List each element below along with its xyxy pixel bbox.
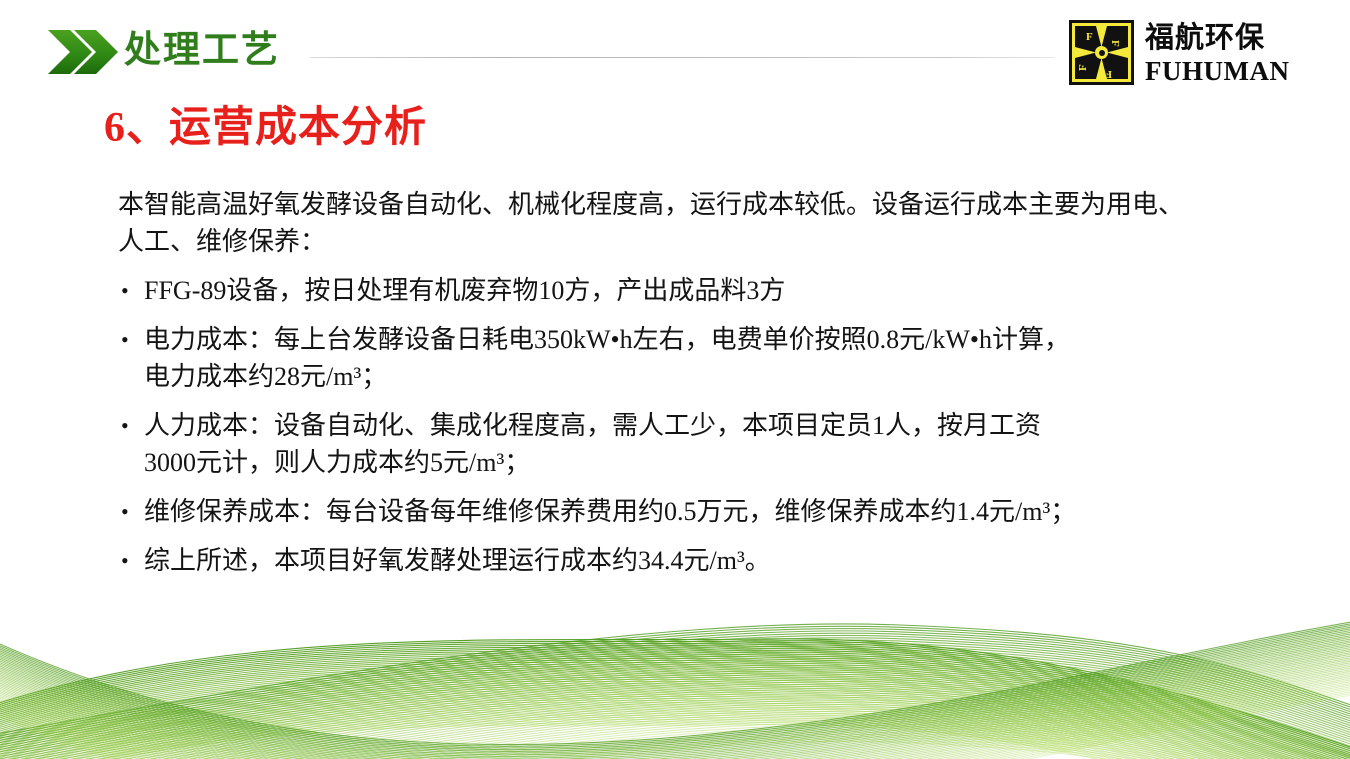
- bullet-line-2: 3000元计，则人力成本约5元/m³；: [144, 444, 1248, 481]
- list-item: 电力成本：每上台发酵设备日耗电350kW•h左右，电费单价按照0.8元/kW•h…: [118, 321, 1248, 395]
- logo-chinese-name: 福航环保: [1145, 22, 1265, 54]
- slide-body: 本智能高温好氧发酵设备自动化、机械化程度高，运行成本较低。设备运行成本主要为用电…: [118, 186, 1248, 579]
- list-item: 综上所述，本项目好氧发酵处理运行成本约34.4元/m³。: [118, 542, 1248, 579]
- page-title: 6、运营成本分析: [104, 100, 427, 156]
- bullet-line-1: 维修保养成本：每台设备每年维修保养费用约0.5万元，维修保养成本约1.4元/m³…: [144, 497, 1076, 526]
- bullet-line-1: 综上所述，本项目好氧发酵处理运行成本约34.4元/m³。: [144, 546, 771, 575]
- header-title: 处理工艺: [124, 28, 280, 74]
- bullet-line-1: 电力成本：每上台发酵设备日耗电350kW•h左右，电费单价按照0.8元/kW•h…: [144, 325, 1070, 354]
- svg-text:F: F: [1086, 31, 1093, 43]
- logo-english-name: FUHUMAN: [1145, 56, 1289, 86]
- bullet-list: FFG-89设备，按日处理有机废弃物10方，产出成品料3方 电力成本：每上台发酵…: [118, 272, 1248, 579]
- bullet-line-1: 人力成本：设备自动化、集成化程度高，需人工少，本项目定员1人，按月工资: [144, 411, 1041, 440]
- green-wave-ribbon: [0, 579, 1350, 759]
- company-logo: F F F F 福航环保 FUHUMAN: [1069, 20, 1267, 88]
- svg-text:F: F: [1077, 64, 1089, 71]
- bullet-line-2: 电力成本约28元/m³；: [144, 358, 1248, 395]
- fuhuman-fan-mark-icon: F F F F: [1069, 20, 1134, 85]
- bullet-line-1: FFG-89设备，按日处理有机废弃物10方，产出成品料3方: [144, 276, 785, 305]
- header-divider: [310, 57, 1055, 58]
- svg-text:F: F: [1109, 40, 1121, 47]
- list-item: 维修保养成本：每台设备每年维修保养费用约0.5万元，维修保养成本约1.4元/m³…: [118, 493, 1248, 530]
- intro-paragraph: 本智能高温好氧发酵设备自动化、机械化程度高，运行成本较低。设备运行成本主要为用电…: [118, 186, 1203, 260]
- list-item: 人力成本：设备自动化、集成化程度高，需人工少，本项目定员1人，按月工资 3000…: [118, 407, 1248, 481]
- svg-text:F: F: [1105, 68, 1112, 80]
- double-chevron-right-icon: [48, 28, 120, 76]
- list-item: FFG-89设备，按日处理有机废弃物10方，产出成品料3方: [118, 272, 1248, 309]
